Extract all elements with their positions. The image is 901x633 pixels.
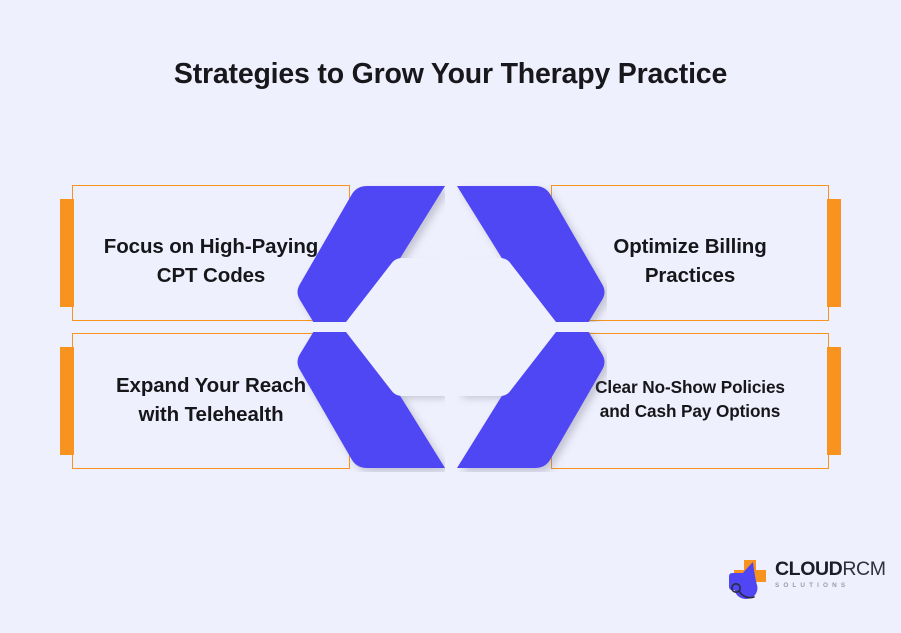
brand-logo-text: CLOUDRCM SOLUTIONS	[775, 560, 875, 589]
cloudrcm-logo-icon	[723, 554, 773, 604]
infographic-canvas: Strategies to Grow Your Therapy Practice…	[0, 0, 901, 633]
brand-wordmark: CLOUDRCM	[775, 560, 875, 580]
accent-bar-top-right	[827, 199, 841, 307]
accent-bar-bottom-right	[827, 347, 841, 455]
brand-logo: CLOUDRCM SOLUTIONS	[723, 552, 875, 608]
brand-wordmark-bold: CLOUD	[775, 558, 842, 580]
brand-wordmark-light: RCM	[842, 558, 885, 580]
brand-tagline: SOLUTIONS	[775, 583, 875, 589]
segmented-hexagon-graphic	[295, 182, 607, 472]
page-title: Strategies to Grow Your Therapy Practice	[0, 58, 901, 91]
